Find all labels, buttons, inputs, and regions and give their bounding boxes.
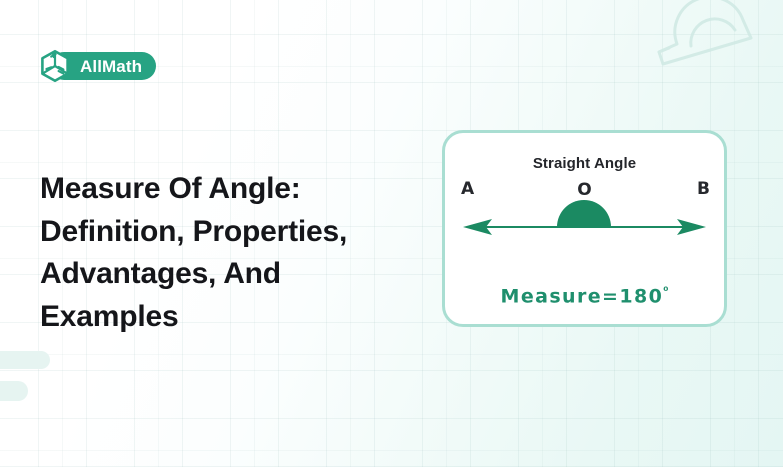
brand-name: AllMath — [80, 58, 142, 75]
measure-caption: Measure=180⁰ — [445, 284, 724, 307]
brand-logo[interactable]: AllMath — [38, 50, 156, 82]
hero-banner: AllMath Measure Of Angle: Definition, Pr… — [0, 0, 783, 467]
point-label-o: O — [577, 180, 591, 200]
protractor-watermark-icon — [647, 0, 763, 78]
page-title: Measure Of Angle: Definition, Properties… — [40, 168, 430, 338]
title-line-4: Examples — [40, 296, 430, 339]
point-label-a: A — [461, 179, 474, 199]
angle-arc-fill — [557, 200, 611, 227]
measure-text: Measure=180 — [501, 285, 664, 307]
point-label-b: B — [697, 179, 710, 199]
title-line-3: Advantages, And — [40, 253, 430, 296]
degree-symbol: ⁰ — [663, 284, 668, 298]
diagram-title: Straight Angle — [445, 155, 724, 172]
ruler-bars-watermark-icon — [0, 331, 124, 409]
math-cube-icon — [38, 49, 72, 83]
title-line-2: Definition, Properties, — [40, 211, 430, 254]
straight-angle-card: Straight Angle A O B Measure=180⁰ — [442, 130, 727, 327]
title-line-1: Measure Of Angle: — [40, 168, 430, 211]
